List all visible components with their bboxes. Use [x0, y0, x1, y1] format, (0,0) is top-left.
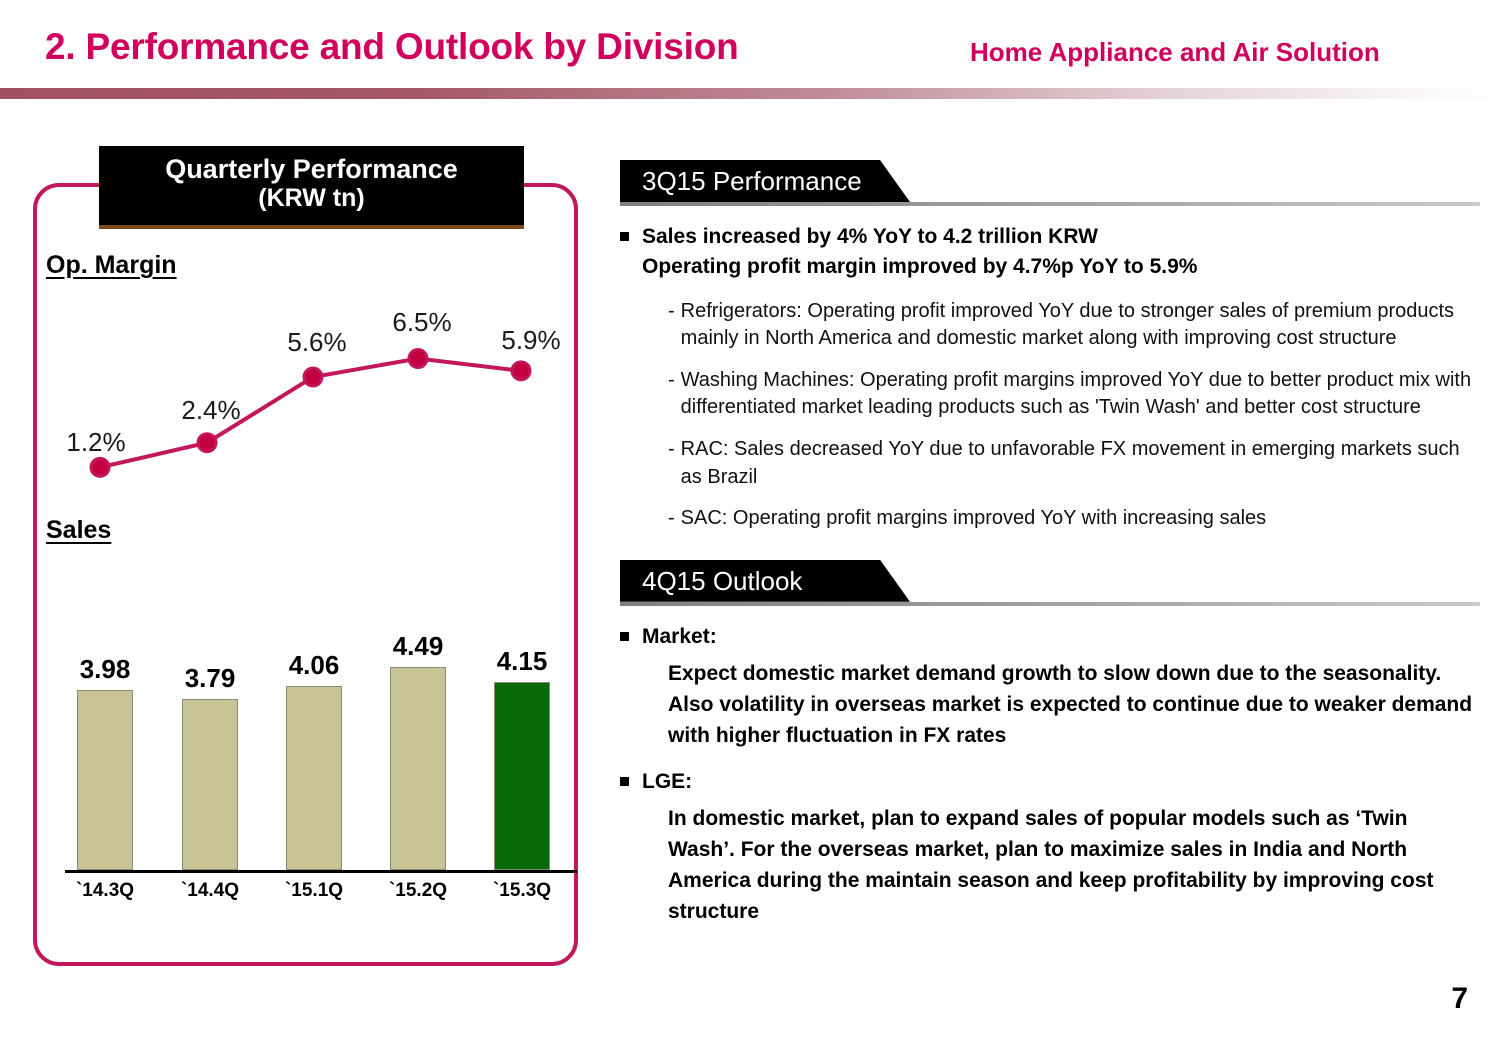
performance-detail-text: SAC: Operating profit margins improved Y…: [681, 505, 1266, 533]
dash-icon: -: [668, 505, 675, 533]
performance-headline-block: Sales increased by 4% YoY to 4.2 trillio…: [620, 222, 1480, 282]
sales-bar: [286, 686, 342, 870]
sales-bar-value-label: 4.15: [497, 646, 548, 677]
op-margin-data-point: [512, 362, 530, 380]
sales-bar-value-label: 4.49: [393, 631, 444, 662]
op-margin-point-label: 6.5%: [392, 307, 451, 338]
page-title: 2. Performance and Outlook by Division: [45, 26, 739, 68]
header-divider: [0, 88, 1500, 99]
outlook-item-market: Market: Expect domestic market demand gr…: [620, 622, 1480, 751]
page-number: 7: [1451, 982, 1468, 1016]
performance-detail-text: RAC: Sales decreased YoY due to unfavora…: [681, 436, 1480, 491]
outlook-banner-rule: [620, 602, 1480, 606]
dash-icon: -: [668, 436, 675, 464]
op-margin-data-point: [304, 368, 322, 386]
outlook-lge-label: LGE:: [642, 767, 692, 797]
chart-title-box: Quarterly Performance (KRW tn): [99, 146, 524, 229]
square-bullet-icon: [620, 232, 629, 241]
sales-bar: [390, 667, 446, 870]
dash-icon: -: [668, 367, 675, 395]
performance-detail-list: - Refrigerators: Operating profit improv…: [668, 298, 1480, 533]
performance-banner: 3Q15 Performance: [620, 160, 1480, 202]
op-margin-data-point: [91, 458, 109, 476]
dash-icon: -: [668, 298, 675, 326]
sales-bar-category-label: `15.2Q: [389, 880, 447, 902]
sales-bar: [182, 699, 238, 870]
performance-banner-label: 3Q15 Performance: [642, 166, 862, 197]
performance-banner-rule: [620, 202, 1480, 206]
outlook-market-body: Expect domestic market demand growth to …: [668, 658, 1480, 751]
chart-title-line1: Quarterly Performance: [99, 155, 524, 185]
op-margin-point-label: 5.9%: [501, 325, 560, 356]
square-bullet-icon: [620, 632, 629, 641]
op-margin-point-label: 1.2%: [66, 427, 125, 458]
bar-chart-axis-line: [65, 870, 577, 873]
sales-bar-chart: 3.98`14.3Q3.79`14.4Q4.06`15.1Q4.49`15.2Q…: [33, 560, 603, 920]
sales-bar-category-label: `15.1Q: [285, 880, 343, 902]
op-margin-data-point: [409, 350, 427, 368]
sales-bar-value-label: 4.06: [289, 650, 340, 681]
outlook-banner: 4Q15 Outlook: [620, 560, 1480, 602]
chart-title-line2: (KRW tn): [99, 185, 524, 213]
sales-bar-category-label: `14.4Q: [181, 880, 239, 902]
op-margin-point-label: 5.6%: [287, 327, 346, 358]
sales-bar-value-label: 3.98: [80, 654, 131, 685]
performance-detail-text: Refrigerators: Operating profit improved…: [681, 298, 1480, 353]
sales-bar-value-label: 3.79: [185, 663, 236, 694]
op-margin-line-chart: 1.2%2.4%5.6%6.5%5.9%: [33, 270, 603, 530]
sales-bar-category-label: `15.3Q: [493, 880, 551, 902]
sales-bar: [77, 690, 133, 870]
list-item: - RAC: Sales decreased YoY due to unfavo…: [668, 436, 1480, 491]
outlook-item-lge: LGE: In domestic market, plan to expand …: [620, 767, 1480, 927]
sales-bar: [494, 682, 550, 870]
performance-headline: Sales increased by 4% YoY to 4.2 trillio…: [642, 222, 1197, 282]
outlook-market-label: Market:: [642, 622, 717, 652]
list-item: - Washing Machines: Operating profit mar…: [668, 367, 1480, 422]
list-item: - SAC: Operating profit margins improved…: [668, 505, 1480, 533]
square-bullet-icon: [620, 777, 629, 786]
op-margin-line-svg: [33, 270, 603, 530]
sales-bar-category-label: `14.3Q: [76, 880, 134, 902]
slide-header: 2. Performance and Outlook by Division H…: [0, 0, 1500, 100]
header-subtitle: Home Appliance and Air Solution: [970, 37, 1380, 68]
performance-headline-line1: Sales increased by 4% YoY to 4.2 trillio…: [642, 222, 1197, 252]
op-margin-data-point: [198, 434, 216, 452]
op-margin-point-label: 2.4%: [181, 395, 240, 426]
outlook-banner-label: 4Q15 Outlook: [642, 566, 802, 597]
right-content-column: 3Q15 Performance Sales increased by 4% Y…: [620, 160, 1480, 927]
performance-headline-line2: Operating profit margin improved by 4.7%…: [642, 252, 1197, 282]
outlook-lge-body: In domestic market, plan to expand sales…: [668, 803, 1480, 927]
performance-detail-text: Washing Machines: Operating profit margi…: [681, 367, 1480, 422]
list-item: - Refrigerators: Operating profit improv…: [668, 298, 1480, 353]
